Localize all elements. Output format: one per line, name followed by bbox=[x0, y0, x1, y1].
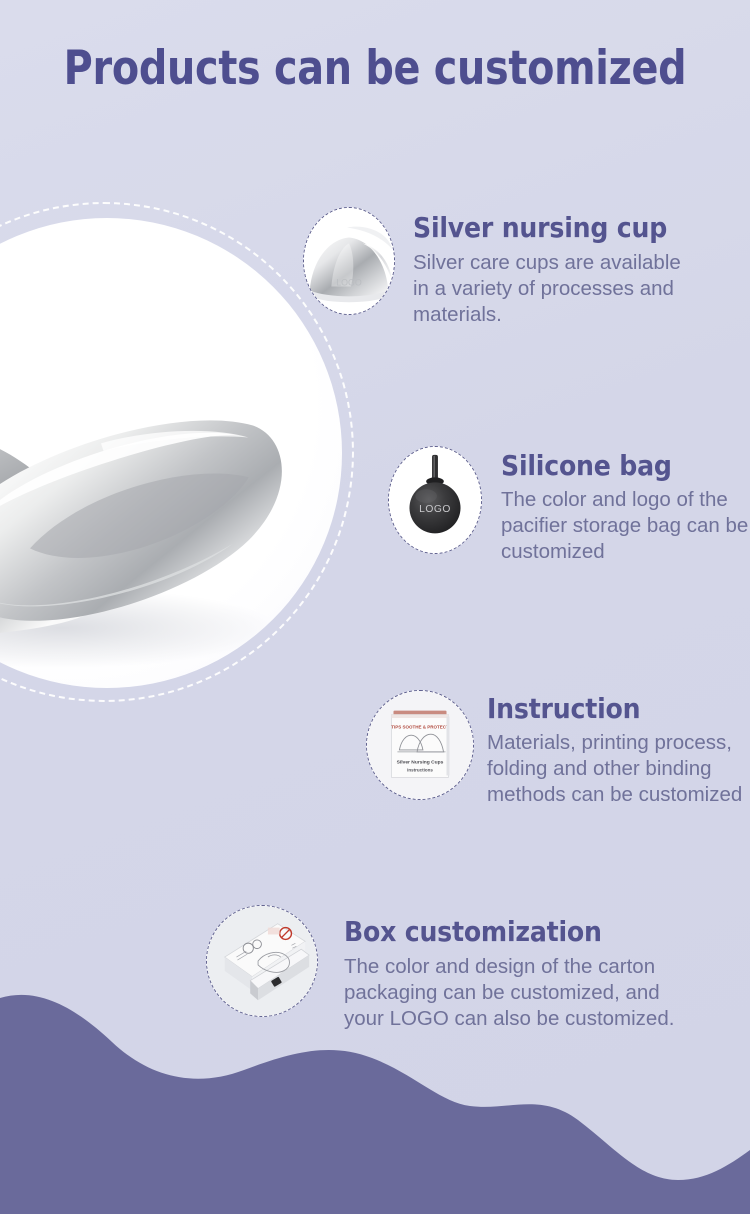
feature-body: Silver care cups are available in a vari… bbox=[413, 250, 688, 328]
thumb-logo-text: LOGO bbox=[336, 278, 362, 288]
hero-image-block bbox=[0, 218, 342, 688]
feature-text-block: Instruction Materials, printing process,… bbox=[487, 690, 750, 808]
feature-text-block: Silicone bag The color and logo of the p… bbox=[501, 446, 750, 565]
feature-heading: Silver nursing cup bbox=[413, 213, 688, 243]
leaflet-title: Silver Nursing Cups bbox=[397, 760, 444, 766]
feature-heading: Silicone bag bbox=[501, 451, 750, 481]
leaflet-top-text: TIPS SOOTHE & PROTECT bbox=[391, 724, 449, 729]
feature-body: The color and logo of the pacifier stora… bbox=[501, 487, 750, 565]
feature-silver-nursing-cup: LOGO Silver nursing cup Silver care cups… bbox=[303, 207, 688, 328]
infographic-page: Products can be customized bbox=[0, 0, 750, 1214]
leaflet-subtitle: Instructions bbox=[407, 768, 433, 773]
feature-silicone-bag: LOGO Silicone bag The color and logo of … bbox=[388, 446, 750, 565]
page-title: Products can be customized bbox=[23, 40, 728, 98]
feature-heading: Box customization bbox=[344, 917, 704, 947]
feature-heading: Instruction bbox=[487, 694, 750, 724]
thumb-logo-text: LOGO bbox=[419, 504, 451, 515]
silicone-bag-thumbnail: LOGO bbox=[388, 446, 482, 554]
instruction-leaflet-thumbnail: TIPS SOOTHE & PROTECT Silver Nursing Cup… bbox=[366, 690, 474, 800]
silver-nursing-cup-thumbnail: LOGO bbox=[303, 207, 395, 315]
feature-body: Materials, printing process, folding and… bbox=[487, 730, 750, 808]
feature-text-block: Silver nursing cup Silver care cups are … bbox=[413, 207, 688, 328]
bottom-wave-decoration bbox=[0, 984, 750, 1214]
feature-instruction: TIPS SOOTHE & PROTECT Silver Nursing Cup… bbox=[366, 690, 750, 808]
